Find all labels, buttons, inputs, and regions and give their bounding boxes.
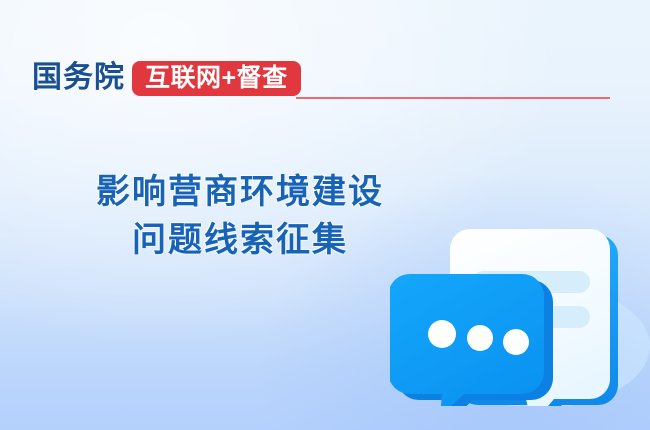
typing-dot-2 bbox=[467, 325, 493, 351]
header-divider-rule bbox=[296, 97, 610, 99]
typing-dot-1 bbox=[428, 320, 456, 348]
status-badge: 互联网+督查 bbox=[132, 61, 301, 96]
gov-label: 国务院 bbox=[32, 63, 125, 93]
status-badge-label: 互联网+督查 bbox=[145, 68, 288, 88]
header-lockup: 国务院 互联网+督查 bbox=[32, 56, 301, 100]
typing-dot-3 bbox=[503, 329, 529, 355]
banner-root: 国务院 互联网+督查 影响营商环境建设 问题线索征集 bbox=[0, 0, 650, 430]
chat-bubbles-illustration bbox=[390, 196, 650, 406]
front-bubble bbox=[390, 274, 553, 406]
